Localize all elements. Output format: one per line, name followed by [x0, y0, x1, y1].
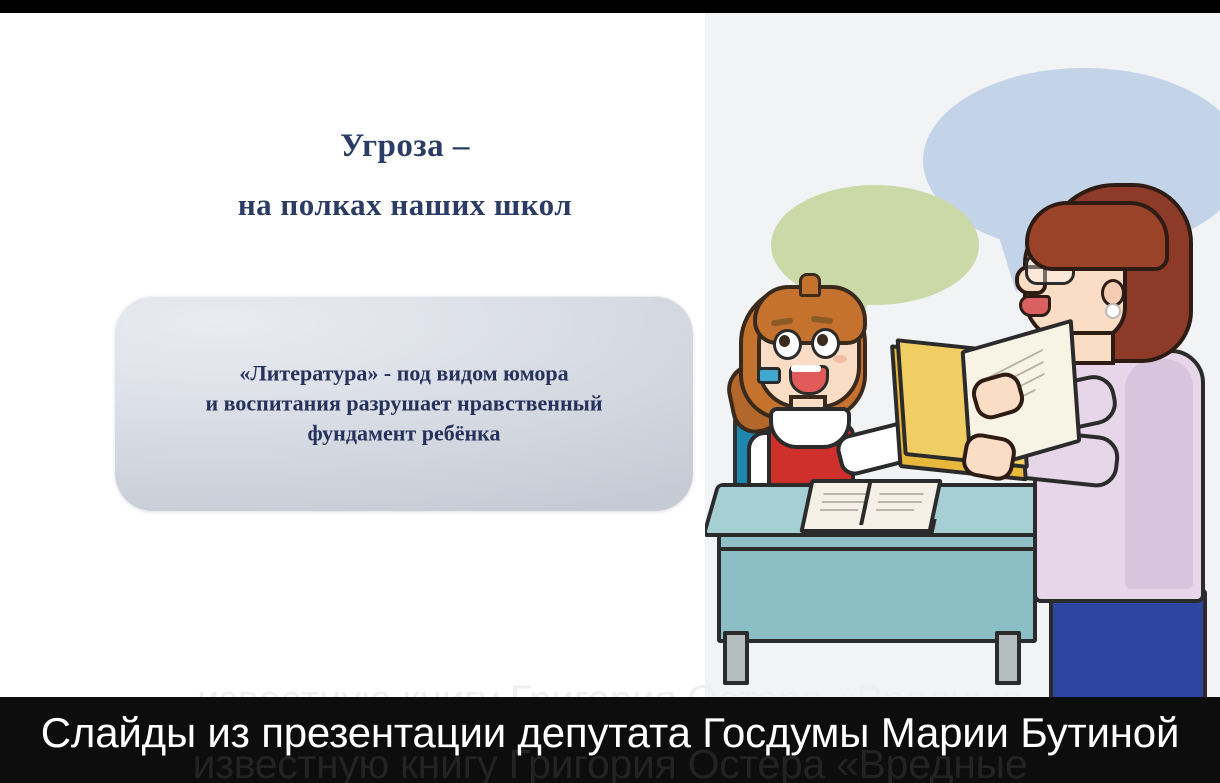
callout-text: «Литература» - под видом юмора и воспита…	[115, 358, 693, 449]
teacher-character	[1005, 183, 1220, 703]
caption-bar: известную книгу Григория Остера «Вредные…	[0, 697, 1220, 783]
top-letterbox-bar	[0, 0, 1220, 13]
slide-title-line-2: на полках наших школ	[110, 188, 700, 222]
girl-cheek	[833, 355, 847, 363]
school-desk	[709, 483, 1055, 683]
callout-box: «Литература» - под видом юмора и воспита…	[115, 296, 693, 511]
teacher-neck	[1069, 331, 1115, 365]
teacher-fringe	[1025, 201, 1169, 271]
callout-line-1: «Литература» - под видом юмора	[129, 358, 679, 388]
teacher-mouth	[1019, 295, 1051, 317]
teacher-blouse-shading	[1125, 359, 1193, 589]
girl-pupil-right	[817, 334, 828, 346]
earring-icon	[1105, 303, 1121, 319]
caption-text: Слайды из презентации депутата Госдумы М…	[0, 709, 1220, 757]
illustration-panel	[705, 13, 1220, 703]
desk-leg-left	[723, 631, 749, 685]
girl-hair-bun	[799, 273, 821, 297]
underlying-slide-text-partial: известную книгу Григория Остера «Вредные	[0, 678, 1220, 698]
callout-line-3: фундамент ребёнка	[129, 419, 679, 449]
girl-teeth	[791, 365, 821, 372]
slide-title-line-1: Угроза –	[110, 128, 700, 164]
desk-front-panel	[717, 539, 1037, 643]
callout-line-2: и воспитания разрушает нравственный	[129, 388, 679, 418]
girl-hair-tie	[757, 367, 781, 384]
video-frame: Угроза – на полках наших школ «Литератур…	[0, 0, 1220, 783]
girl-pupil-left	[779, 335, 790, 347]
slide-title: Угроза – на полках наших школ	[110, 128, 700, 222]
presentation-slide: Угроза – на полках наших школ «Литератур…	[0, 13, 1220, 703]
classroom-illustration	[705, 13, 1220, 703]
